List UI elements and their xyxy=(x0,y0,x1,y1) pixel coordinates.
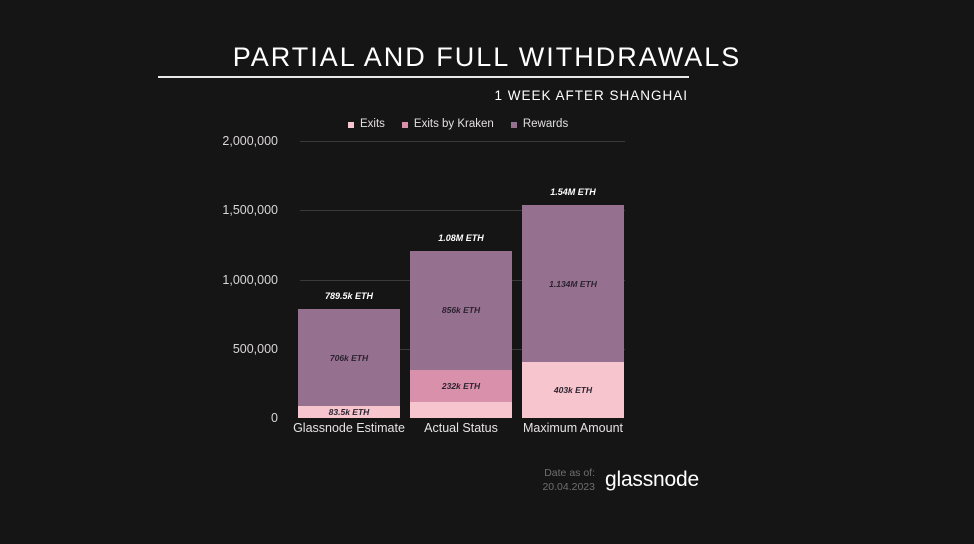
x-axis-labels: Glassnode EstimateActual StatusMaximum A… xyxy=(300,421,625,439)
y-axis-tick-label: 0 xyxy=(271,411,278,425)
bar-segment-label: 232k ETH xyxy=(410,381,512,391)
bar-segment-label: 706k ETH xyxy=(298,353,400,363)
x-axis-tick-label: Maximum Amount xyxy=(523,421,623,435)
y-axis-tick-label: 2,000,000 xyxy=(222,134,278,148)
bar-segment-rewards: 856k ETH xyxy=(410,251,512,370)
bar-segment-rewards: 1.134M ETH xyxy=(522,205,624,362)
y-axis-tick-label: 500,000 xyxy=(233,342,278,356)
legend-label: Exits xyxy=(360,119,385,131)
glassnode-logo: glassnode xyxy=(605,468,699,492)
legend-item-exits[interactable]: Exits xyxy=(348,119,385,131)
bar-segment-label: 856k ETH xyxy=(410,305,512,315)
legend-swatch-icon xyxy=(402,122,408,128)
bar-segment-label: 83.5k ETH xyxy=(298,407,400,417)
legend-item-exits-by-kraken[interactable]: Exits by Kraken xyxy=(402,119,494,131)
date-value: 20.04.2023 xyxy=(520,480,595,494)
legend-label: Exits by Kraken xyxy=(414,119,494,131)
legend-item-rewards[interactable]: Rewards xyxy=(511,119,568,131)
title-underline-rule xyxy=(158,76,689,78)
y-axis-tick-label: 1,500,000 xyxy=(222,203,278,217)
bar-total-label: 1.08M ETH xyxy=(410,233,512,243)
chart-canvas: PARTIAL AND FULL WITHDRAWALS 1 WEEK AFTE… xyxy=(0,0,974,544)
legend-swatch-icon xyxy=(511,122,517,128)
bar-segment-exits: 403k ETH xyxy=(522,362,624,418)
bar-glassnode-estimate[interactable]: 83.5k ETH706k ETH789.5k ETH xyxy=(298,309,400,418)
y-axis-labels: 0500,0001,000,0001,500,0002,000,000 xyxy=(0,141,292,418)
bar-group: 83.5k ETH706k ETH789.5k ETH232k ETH856k … xyxy=(300,141,625,418)
page-subtitle: 1 WEEK AFTER SHANGHAI xyxy=(0,88,688,103)
bar-maximum-amount[interactable]: 403k ETH1.134M ETH1.54M ETH xyxy=(522,205,624,418)
bar-segment-rewards: 706k ETH xyxy=(298,309,400,407)
date-label: Date as of: xyxy=(520,466,595,480)
legend-swatch-icon xyxy=(348,122,354,128)
bar-total-label: 1.54M ETH xyxy=(522,187,624,197)
y-axis-tick-label: 1,000,000 xyxy=(222,273,278,287)
bar-actual-status[interactable]: 232k ETH856k ETH1.08M ETH xyxy=(410,251,512,418)
page-title: PARTIAL AND FULL WITHDRAWALS xyxy=(0,42,974,73)
bar-total-label: 789.5k ETH xyxy=(298,291,400,301)
bar-segment-label: 403k ETH xyxy=(522,385,624,395)
x-axis-tick-label: Actual Status xyxy=(424,421,498,435)
legend-label: Rewards xyxy=(523,119,568,131)
bar-segment-exits xyxy=(410,402,512,418)
bar-segment-exits-by-kraken: 232k ETH xyxy=(410,370,512,402)
bar-segment-exits: 83.5k ETH xyxy=(298,406,400,418)
plot-area: 83.5k ETH706k ETH789.5k ETH232k ETH856k … xyxy=(300,141,625,418)
x-axis-tick-label: Glassnode Estimate xyxy=(293,421,405,435)
bar-segment-label: 1.134M ETH xyxy=(522,279,624,289)
date-stamp: Date as of: 20.04.2023 xyxy=(520,466,595,494)
chart-legend: ExitsExits by KrakenRewards xyxy=(348,119,568,131)
